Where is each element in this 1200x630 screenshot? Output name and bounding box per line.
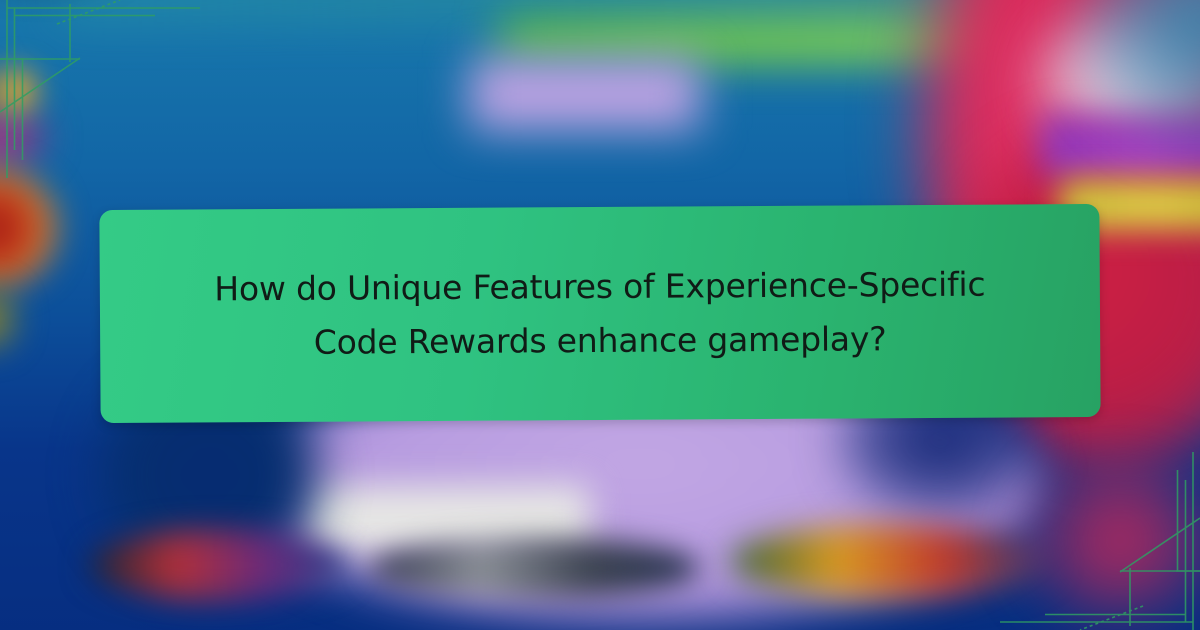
question-card: How do Unique Features of Experience-Spe… <box>99 204 1100 423</box>
bg-blob-bottom-clutter-right <box>730 525 1050 597</box>
bg-blob-bottom-clutter-center <box>370 538 700 598</box>
bg-blob-bottom-clutter-left <box>90 530 350 600</box>
screenshot-stage: How do Unique Features of Experience-Spe… <box>0 0 1200 630</box>
question-text: How do Unique Features of Experience-Spe… <box>205 258 996 370</box>
bg-band-lavender-small <box>470 58 700 130</box>
